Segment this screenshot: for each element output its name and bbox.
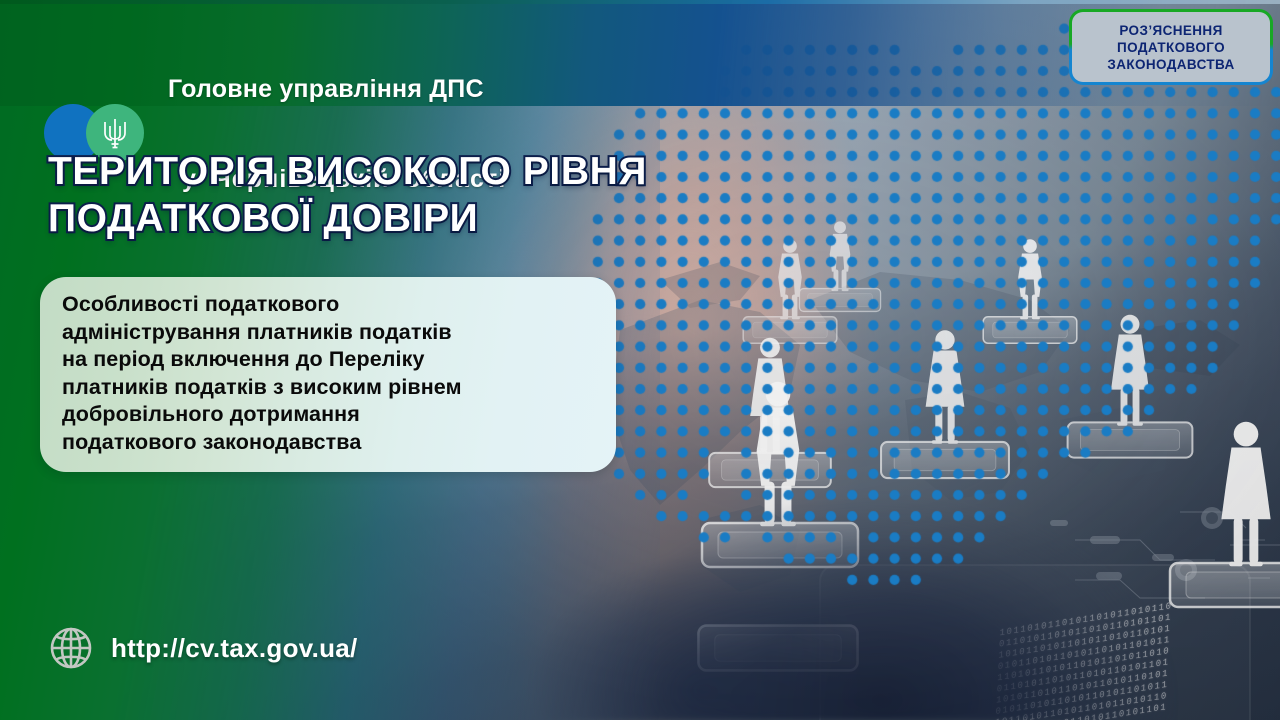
badge-line-2: ПОДАТКОВОГО: [1117, 39, 1225, 56]
website-footer[interactable]: http://cv.tax.gov.ua/: [48, 625, 358, 671]
description-card-text: Особливості податкового адміністрування …: [62, 291, 594, 456]
infographic-poster: 1011010110101101011010110 01101011010110…: [0, 0, 1280, 720]
top-hairline-divider: [0, 0, 1280, 4]
poster-headline: ТЕРИТОРІЯ ВИСОКОГО РІВНЯ ПОДАТКОВОЇ ДОВІ…: [48, 148, 748, 242]
globe-icon: [48, 625, 94, 671]
badge-inner: РОЗ’ЯСНЕННЯ ПОДАТКОВОГО ЗАКОНОДАВСТВА: [1072, 12, 1270, 82]
website-url-text[interactable]: http://cv.tax.gov.ua/: [111, 633, 358, 664]
description-card: Особливості податкового адміністрування …: [40, 277, 616, 472]
tax-law-clarification-badge: РОЗ’ЯСНЕННЯ ПОДАТКОВОГО ЗАКОНОДАВСТВА: [1069, 9, 1273, 85]
trident-icon: [101, 116, 129, 150]
agency-title-line1: Головне управління ДПС: [168, 74, 506, 104]
badge-line-3: ЗАКОНОДАВСТВА: [1107, 56, 1234, 73]
badge-line-1: РОЗ’ЯСНЕННЯ: [1119, 22, 1222, 39]
